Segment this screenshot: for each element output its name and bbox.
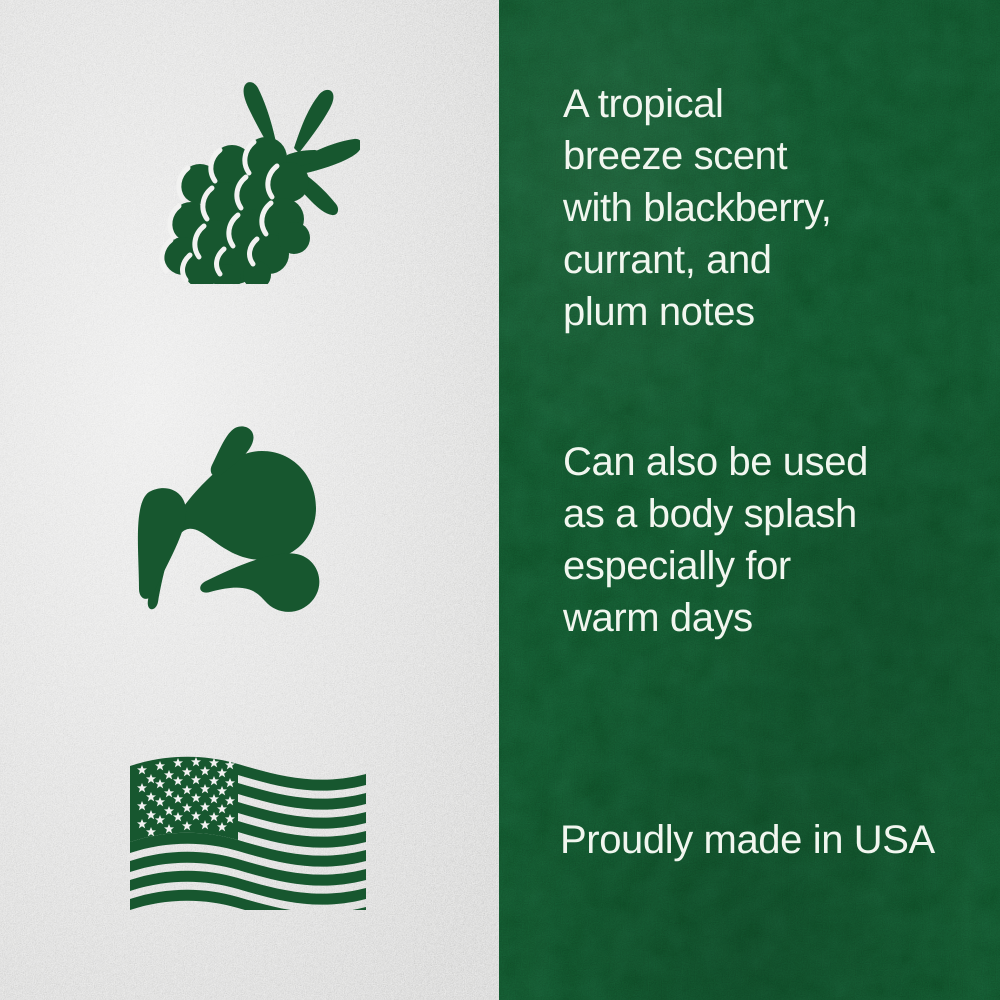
usage-description-text: Can also be used as a body splash especi… [563, 436, 983, 644]
origin-text: Proudly made in USA [560, 814, 990, 866]
blackberry-icon [128, 56, 360, 284]
usa-flag-icon [126, 752, 370, 910]
icon-panel [0, 0, 500, 1000]
scent-description-text: A tropical breeze scent with blackberry,… [563, 78, 983, 338]
splash-icon [136, 426, 328, 622]
product-feature-graphic: A tropical breeze scent with blackberry,… [0, 0, 1000, 1000]
